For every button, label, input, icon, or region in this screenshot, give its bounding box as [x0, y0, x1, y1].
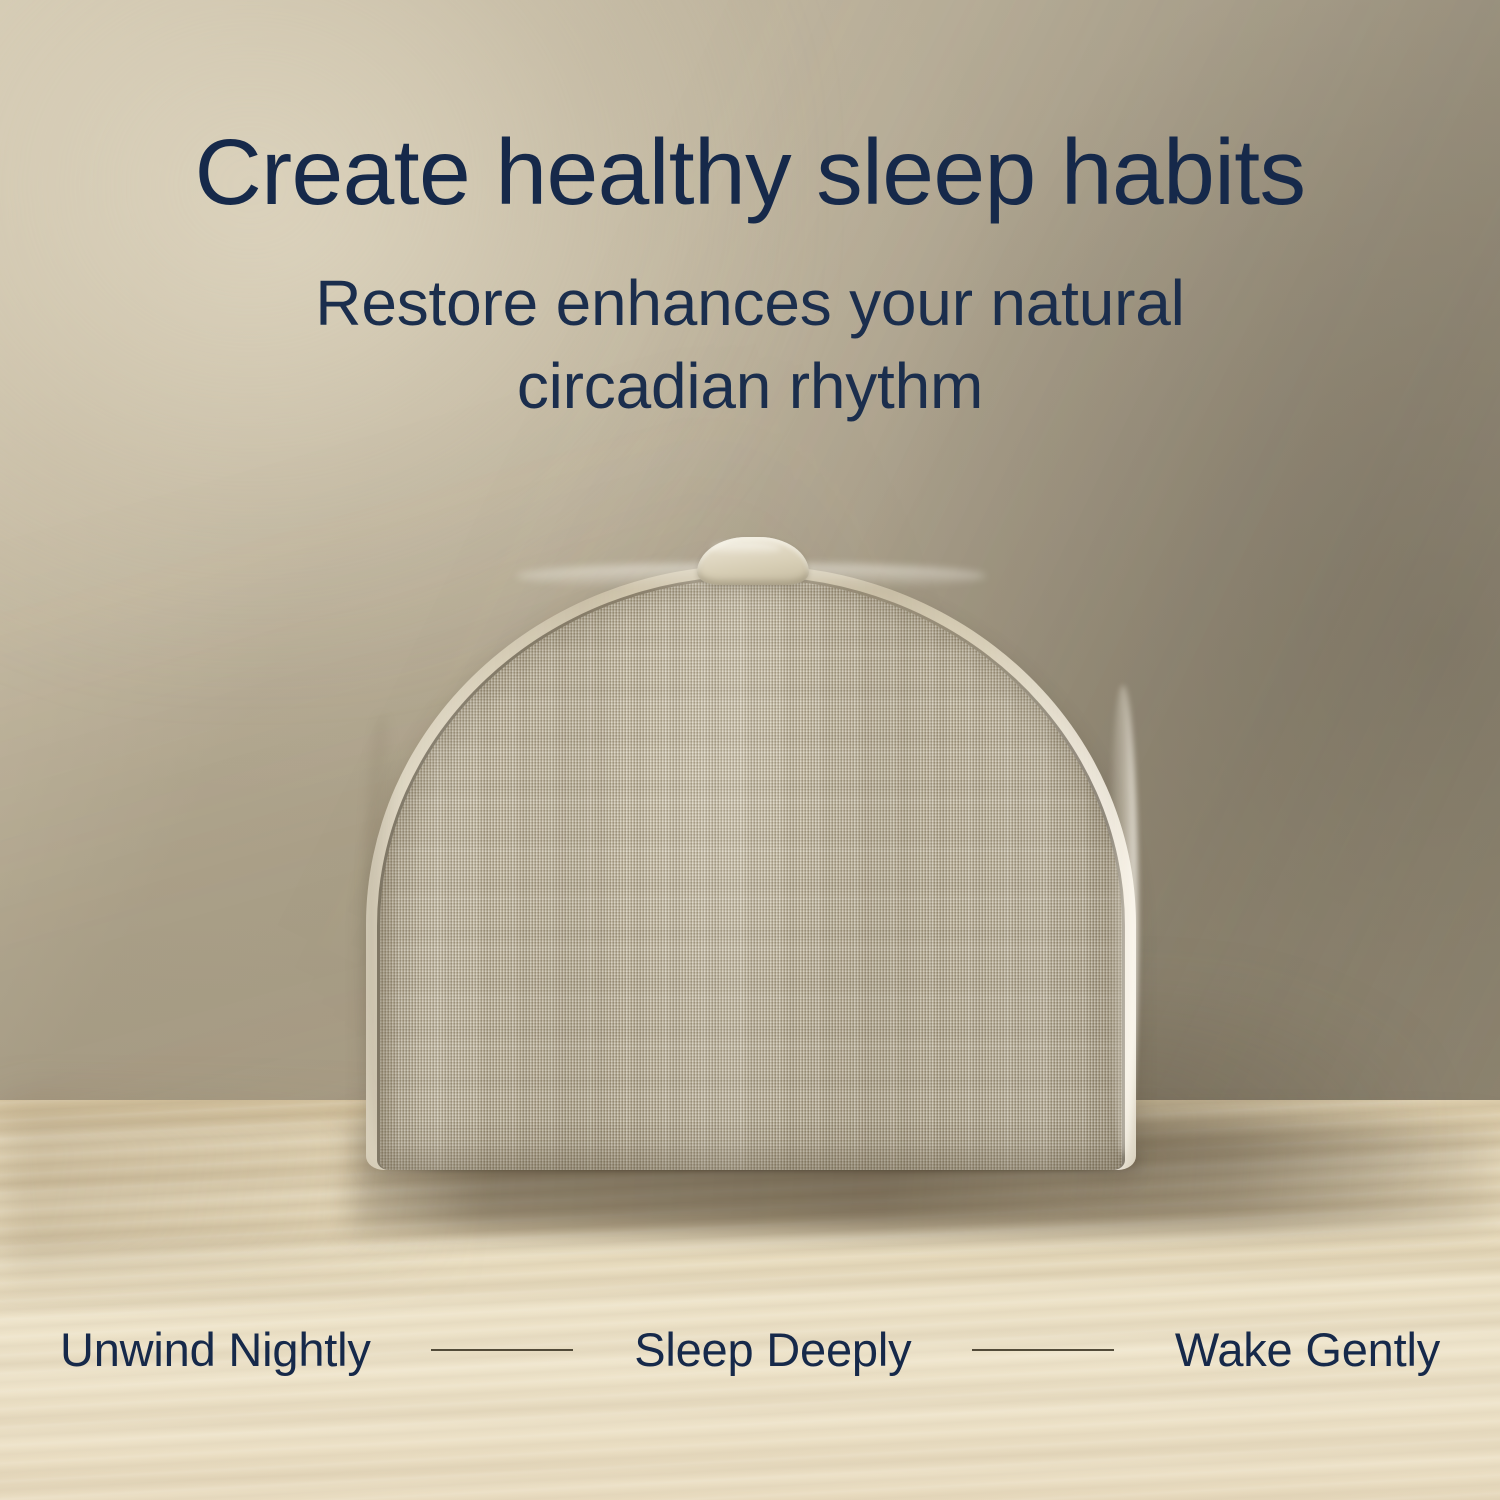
feature-strip: Unwind Nightly Sleep Deeply Wake Gently [60, 1322, 1440, 1377]
feature-label-wake-gently: Wake Gently [1175, 1322, 1440, 1377]
page-subtitle-line-1: Restore enhances your natural [0, 262, 1500, 345]
page-title: Create healthy sleep habits [0, 122, 1500, 222]
feature-divider-1 [431, 1349, 573, 1351]
page-subtitle: Restore enhances your natural circadian … [0, 262, 1500, 428]
feature-label-sleep-deeply: Sleep Deeply [634, 1322, 911, 1377]
device-bezel-shell [366, 565, 1136, 1170]
product-marketing-image: Create healthy sleep habits Restore enha… [0, 0, 1500, 1500]
linen-speaker-face [380, 579, 1122, 1170]
product-device [366, 565, 1136, 1170]
feature-label-unwind-nightly: Unwind Nightly [60, 1322, 371, 1377]
linen-weave-streaks [380, 579, 1122, 1170]
page-subtitle-line-2: circadian rhythm [0, 345, 1500, 428]
feature-divider-2 [972, 1349, 1114, 1351]
knob-highlight [711, 542, 781, 555]
